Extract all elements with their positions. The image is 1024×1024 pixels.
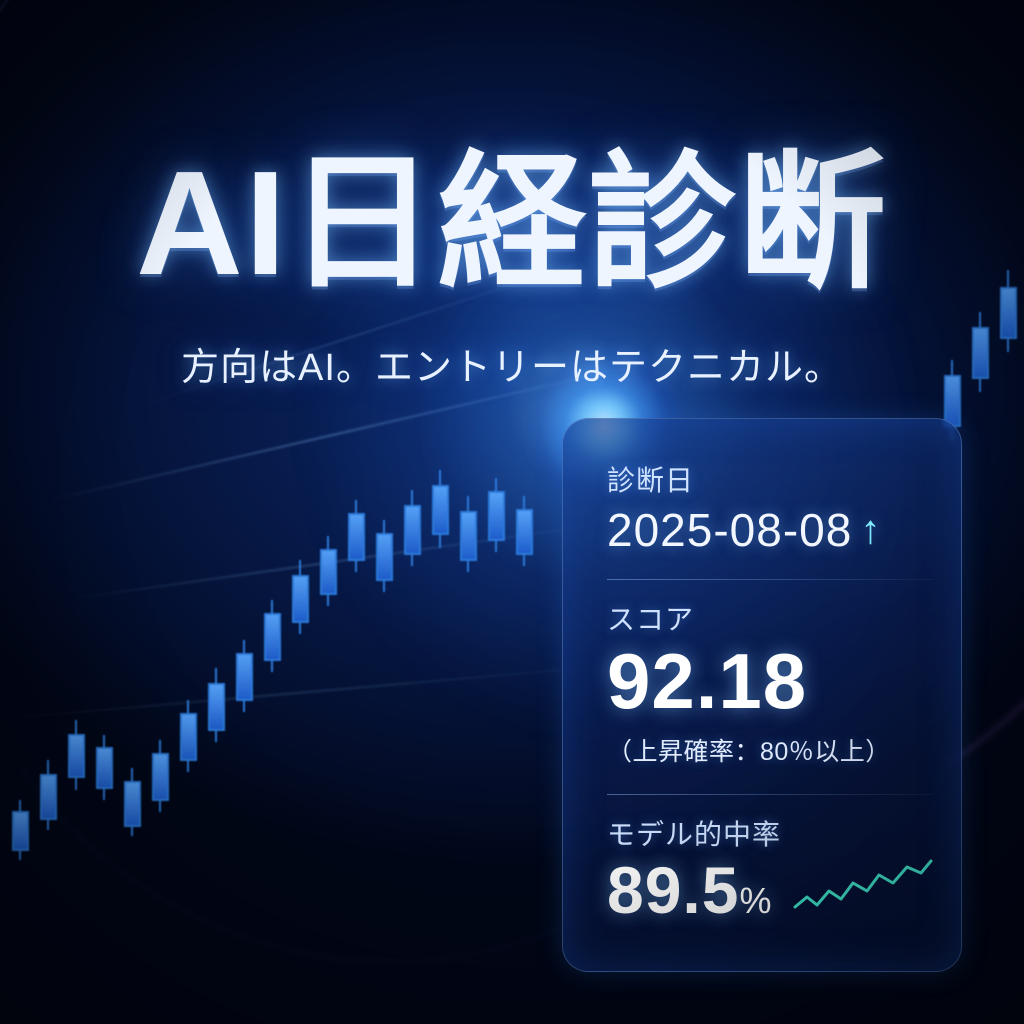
card-divider-2 (607, 794, 933, 795)
accuracy-value: 89.5% (607, 857, 772, 923)
diagnosis-date-value: 2025-08-08 ↑ (607, 503, 933, 557)
accuracy-row: 89.5% (607, 857, 933, 923)
diagnosis-card: 診断日 2025-08-08 ↑ スコア 92.18 （上昇確率：80％以上） … (562, 418, 962, 972)
diagnosis-date-text: 2025-08-08 (607, 503, 852, 557)
score-label: スコア (607, 598, 933, 638)
page-title: AI日経診断 (0, 150, 1024, 298)
score-note: （上昇確率：80％以上） (607, 732, 933, 768)
arrow-up-icon: ↑ (860, 510, 881, 550)
accuracy-unit: % (739, 880, 772, 921)
diagnosis-date-label: 診断日 (607, 459, 933, 499)
card-divider-1 (607, 579, 933, 580)
accuracy-label: モデル的中率 (607, 813, 933, 853)
score-value: 92.18 (607, 642, 933, 720)
accuracy-number: 89.5 (607, 853, 739, 927)
page-subtitle: 方向はAI。エントリーはテクニカル。 (0, 336, 1024, 391)
poster-canvas: AI日経診断 方向はAI。エントリーはテクニカル。 診断日 2025-08-08… (0, 0, 1024, 1024)
sparkline-icon (793, 857, 933, 917)
